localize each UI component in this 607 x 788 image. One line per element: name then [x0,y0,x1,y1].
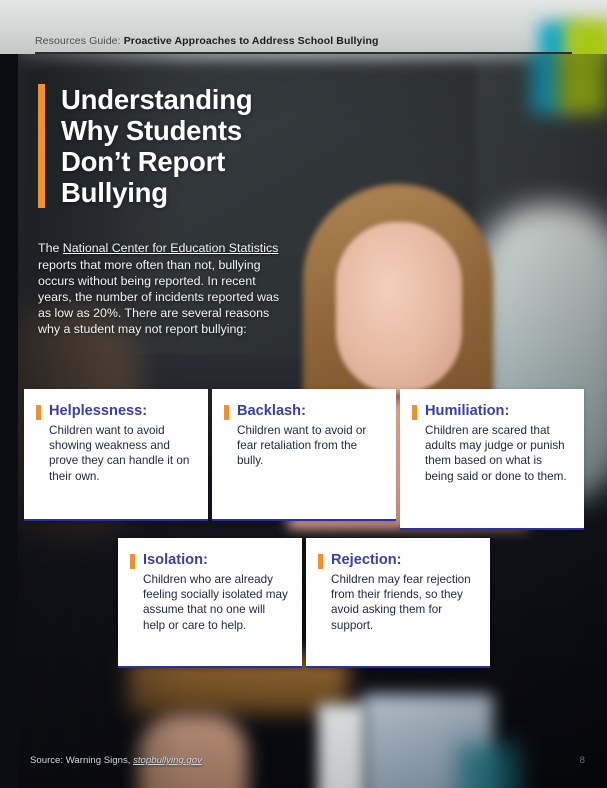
title-accent-bar [38,84,45,208]
source-citation: Source: Warning Signs, stopbullying.gov [30,755,202,766]
card-text: Children who are already feeling sociall… [143,572,288,633]
intro-text-after: reports that more often than not, bullyi… [38,258,279,337]
page-title-line-3: Don’t Report [61,146,252,177]
breadcrumb-title: Proactive Approaches to Address School B… [124,35,379,47]
card-accent-bar [36,405,41,420]
header-green-blur [565,20,607,54]
card-text: Children are scared that adults may judg… [425,423,570,484]
reason-card-isolation: Isolation: Children who are already feel… [118,538,302,668]
breadcrumb: Resources Guide: Proactive Approaches to… [35,35,379,47]
card-title: Backlash: [237,403,382,419]
reason-card-backlash: Backlash: Children want to avoid or fear… [212,389,396,521]
reason-card-humiliation: Humiliation: Children are scared that ad… [400,389,584,530]
card-accent-bar [130,554,135,569]
page-number: 8 [580,755,585,766]
page-title-line-4: Bullying [61,177,252,208]
page-title-line-2: Why Students [61,115,252,146]
page-title-line-1: Understanding [61,84,252,115]
stopbullying-link[interactable]: stopbullying.gov [133,755,202,766]
card-accent-bar [318,554,323,569]
hero-title-block: Understanding Why Students Don’t Report … [38,84,252,208]
intro-paragraph: The National Center for Education Statis… [38,240,290,337]
breadcrumb-label: Resources Guide: [35,35,121,47]
reason-card-helplessness: Helplessness: Children want to avoid sho… [24,389,208,521]
card-accent-bar [224,405,229,420]
page-title: Understanding Why Students Don’t Report … [61,84,252,208]
page-root: Resources Guide: Proactive Approaches to… [0,0,607,788]
national-center-link[interactable]: National Center for Education Statistics [63,241,279,255]
header-divider [35,52,572,54]
card-text: Children want to avoid showing weakness … [49,423,194,484]
card-text: Children want to avoid or fear retaliati… [237,423,382,469]
intro-text-before: The [38,241,63,255]
card-title: Rejection: [331,552,476,568]
reason-card-rejection: Rejection: Children may fear rejection f… [306,538,490,668]
card-title: Isolation: [143,552,288,568]
source-prefix: Source: Warning Signs, [30,755,133,766]
card-title: Helplessness: [49,403,194,419]
card-accent-bar [412,405,417,420]
page-header: Resources Guide: Proactive Approaches to… [0,0,607,54]
card-text: Children may fear rejection from their f… [331,572,476,633]
card-title: Humiliation: [425,403,570,419]
